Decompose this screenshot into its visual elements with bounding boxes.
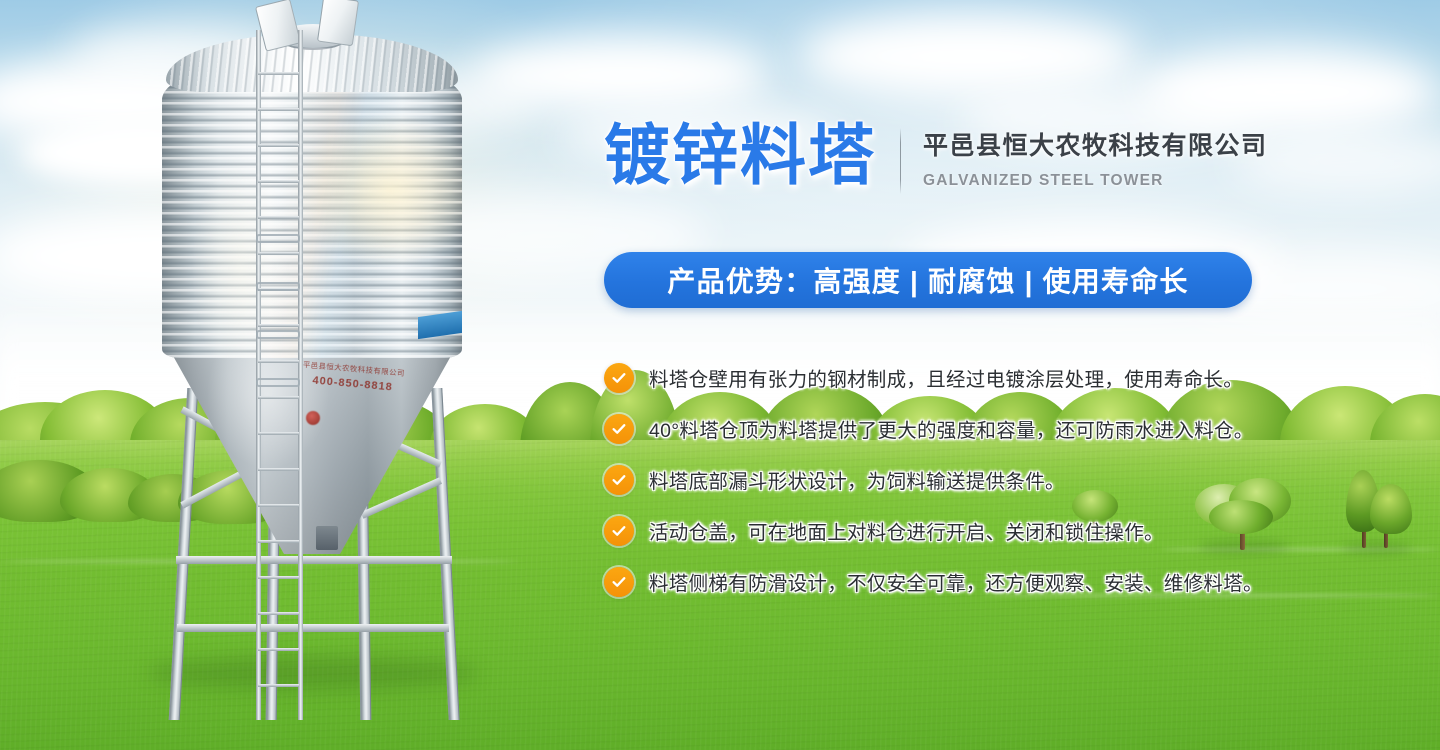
- feature-text: 料塔仓壁用有张力的钢材制成，且经过电镀涂层处理，使用寿命长。: [649, 363, 1243, 392]
- check-circle-icon: [604, 414, 634, 444]
- check-circle-icon: [604, 567, 634, 597]
- company-name: 平邑县恒大农牧科技有限公司: [923, 126, 1268, 162]
- check-circle-icon: [604, 465, 634, 495]
- feature-text: 活动仓盖，可在地面上对料仓进行开启、关闭和锁住操作。: [649, 516, 1164, 545]
- check-circle-icon: [604, 516, 634, 546]
- advantages-banner: 产品优势：高强度 | 耐腐蚀 | 使用寿命长: [604, 252, 1252, 308]
- list-item: 料塔仓壁用有张力的钢材制成，且经过电镀涂层处理，使用寿命长。: [604, 352, 1304, 403]
- feature-text: 40°料塔仓顶为料塔提供了更大的强度和容量，还可防雨水进入料仓。: [649, 414, 1254, 443]
- feature-list: 料塔仓壁用有张力的钢材制成，且经过电镀涂层处理，使用寿命长。 40°料塔仓顶为料…: [604, 352, 1304, 607]
- check-circle-icon: [604, 363, 634, 393]
- list-item: 活动仓盖，可在地面上对料仓进行开启、关闭和锁住操作。: [604, 505, 1304, 556]
- company-name-en: GALVANIZED STEEL TOWER: [923, 172, 1268, 190]
- list-item: 40°料塔仓顶为料塔提供了更大的强度和容量，还可防雨水进入料仓。: [604, 403, 1304, 454]
- title-divider: [900, 128, 901, 194]
- list-item: 料塔侧梯有防滑设计，不仅安全可靠，还方便观察、安装、维修料塔。: [604, 556, 1304, 607]
- advantages-banner-text: 产品优势：高强度 | 耐腐蚀 | 使用寿命长: [667, 260, 1188, 300]
- company-block: 平邑县恒大农牧科技有限公司 GALVANIZED STEEL TOWER: [923, 122, 1268, 190]
- feature-text: 料塔侧梯有防滑设计，不仅安全可靠，还方便观察、安装、维修料塔。: [649, 567, 1263, 596]
- feature-text: 料塔底部漏斗形状设计，为饲料输送提供条件。: [649, 465, 1065, 494]
- list-item: 料塔底部漏斗形状设计，为饲料输送提供条件。: [604, 454, 1304, 505]
- title-block: 镀锌料塔 平邑县恒大农牧科技有限公司 GALVANIZED STEEL TOWE…: [604, 122, 1268, 194]
- page-title: 镀锌料塔: [604, 122, 876, 188]
- hero-banner: 平邑县恒大农牧科技有限公司 400-850-8818: [0, 0, 1440, 750]
